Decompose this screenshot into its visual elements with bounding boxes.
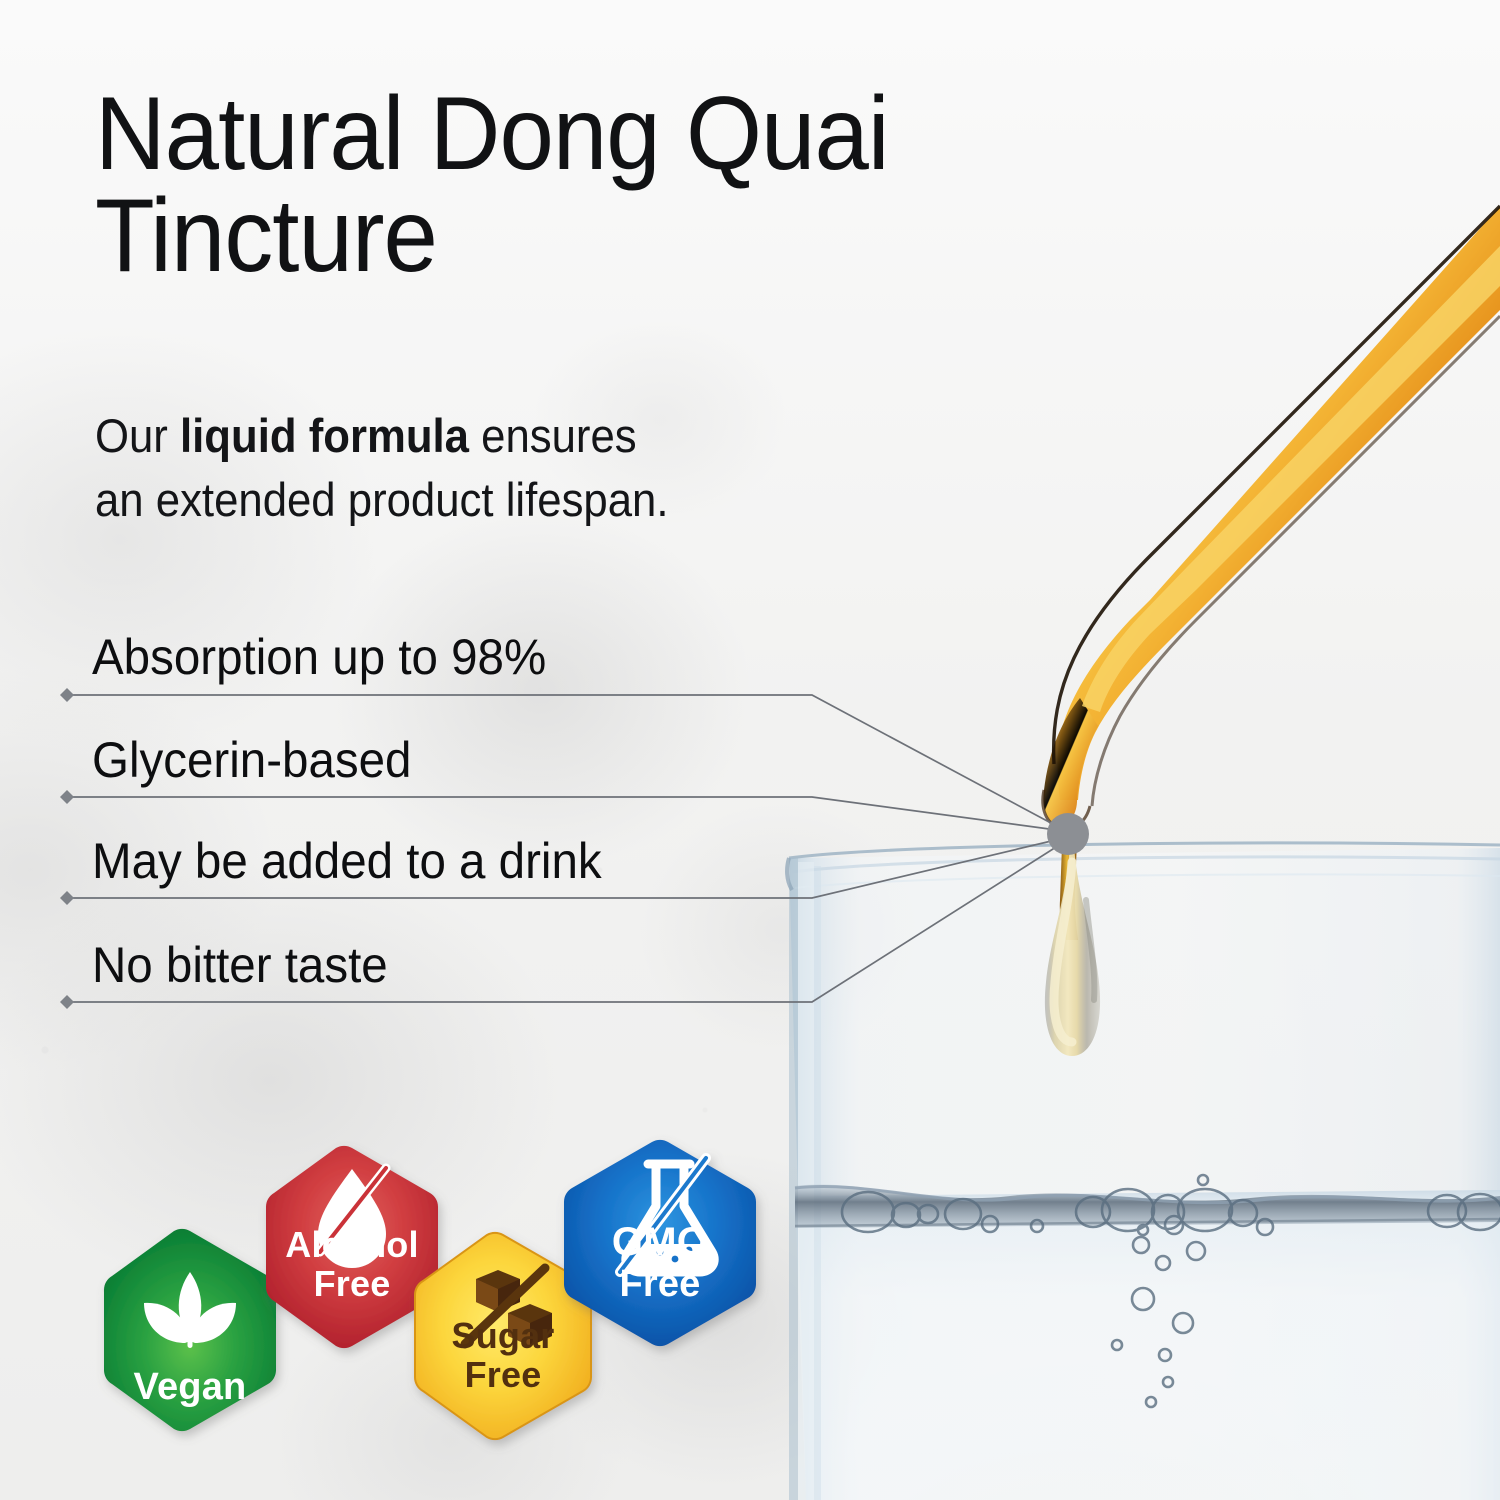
badge-labels: Vegan Alcohol Free Sugar Free GMO Free xyxy=(0,0,1500,1500)
infographic-canvas: Natural Dong Quai Tincture Our liquid fo… xyxy=(0,0,1500,1500)
